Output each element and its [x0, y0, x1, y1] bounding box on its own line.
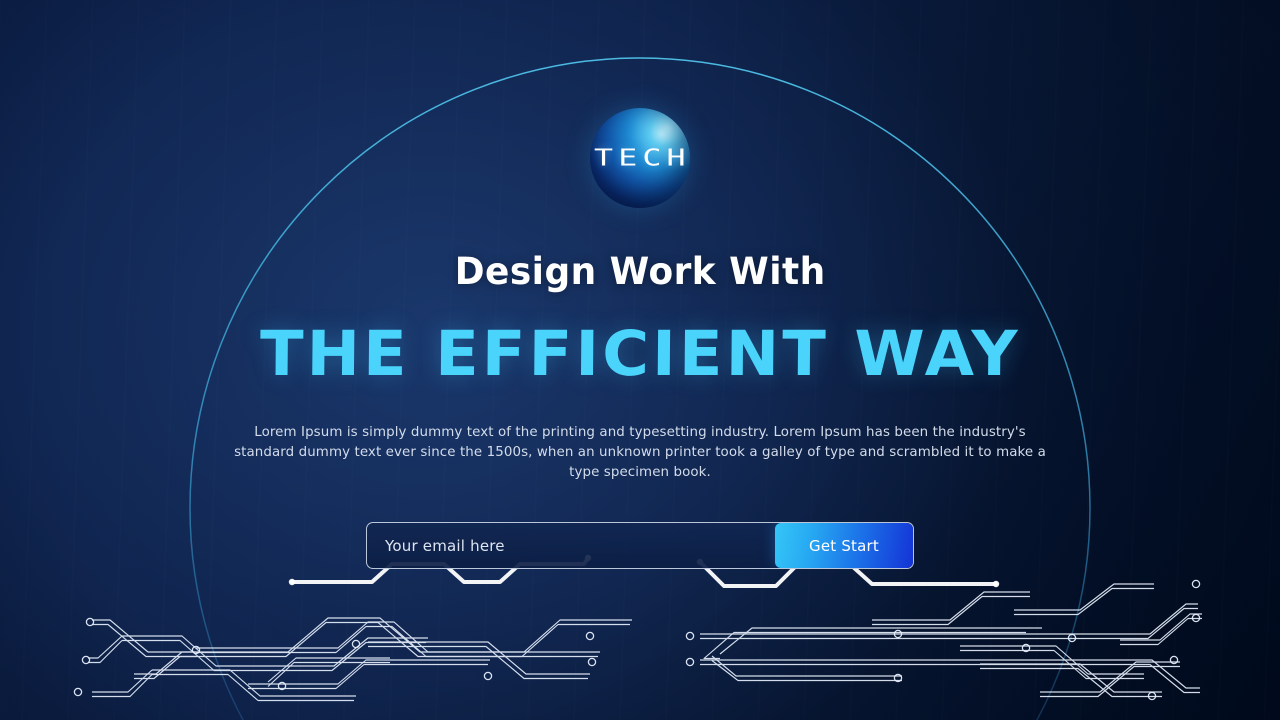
brand-logo: TECH: [585, 108, 695, 208]
hero-content: TECH Design Work With THE EFFICIENT WAY …: [0, 0, 1280, 720]
hero-headline: THE EFFICIENT WAY: [259, 317, 1020, 390]
hero-paragraph: Lorem Ipsum is simply dummy text of the …: [234, 423, 1046, 483]
logo-text: TECH: [594, 145, 691, 172]
hero-stage: TECH Design Work With THE EFFICIENT WAY …: [0, 0, 1280, 720]
email-input[interactable]: [367, 523, 775, 568]
get-start-button[interactable]: Get Start: [775, 523, 913, 568]
hero-subhead: Design Work With: [455, 250, 826, 293]
signup-form: Get Start: [366, 522, 914, 569]
